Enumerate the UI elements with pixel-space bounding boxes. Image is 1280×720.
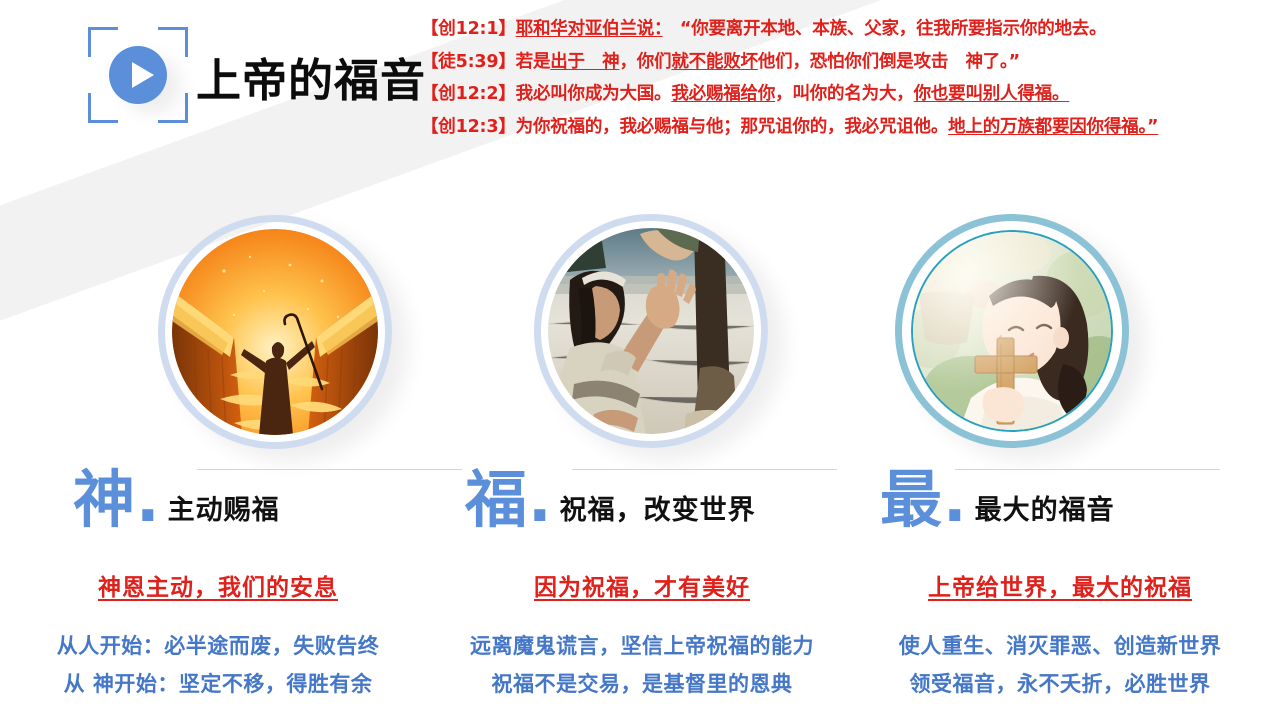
verse-part-2a: 若是 (516, 52, 551, 72)
column-red-line-2: 因为祝福，才有美好 (432, 568, 852, 602)
verse-ref-2: 【徒5:39】 (421, 52, 516, 72)
circle-image-2 (534, 214, 768, 448)
column-dot-1: . (136, 469, 160, 531)
column-big-char-1: 神 (73, 469, 135, 531)
column-subhead-2: 祝福，改变世界 (560, 488, 756, 527)
verse-line-4: 【创12:3】为你祝福的，我必赐福与他；那咒诅你的，我必咒诅他。地上的万族都要因… (421, 111, 1280, 144)
column-subhead-3: 最大的福音 (975, 488, 1115, 527)
column-red-line-3: 上帝给世界，最大的祝福 (850, 568, 1270, 602)
image-row (0, 205, 1280, 455)
verse-line-3: 【创12:2】我必叫你成为大国。我必赐福给你，叫你的名为大，你也要叫别人得福。 (421, 78, 1280, 111)
slide-header: 上帝的福音 【创12:1】耶和华对亚伯兰说： “你要离开本地、本族、父家，往我所… (0, 0, 1280, 160)
page-title: 上帝的福音 (196, 44, 426, 109)
verse-underline-2b: 就不能败坏 (671, 52, 758, 72)
column-blue-line-2b: 祝福不是交易，是基督里的恩典 (432, 665, 852, 703)
column-heading-3: 最 . 最大的福音 (880, 469, 1115, 531)
woman-kneeling-reaching-photo (548, 228, 754, 434)
brand-logo (88, 27, 188, 123)
verse-part-2b: ，你们 (619, 52, 671, 72)
circle-image-3 (895, 214, 1129, 448)
column-red-line-1: 神恩主动，我们的安息 (8, 568, 428, 602)
verse-part-3a: 我必叫你成为大国。 (516, 84, 672, 104)
content-columns: 神 . 主动赐福 福 . 祝福，改变世界 最 . 最大的福音 神恩主动，我们的安… (0, 455, 1280, 720)
verse-line-2: 【徒5:39】若是出于 神，你们就不能败坏他们，恐怕你们倒是攻击 神了。” (421, 46, 1280, 79)
verse-part-3b: ，叫你的名为大， (775, 84, 913, 104)
column-dot-3: . (943, 469, 967, 531)
verse-ref-3: 【创12:2】 (421, 84, 516, 104)
column-blue-line-3a: 使人重生、消灭罪恶、创造新世界 (850, 627, 1270, 665)
verse-ref-1: 【创12:1】 (421, 19, 516, 39)
column-blue-line-1b: 从 神开始：坚定不移，得胜有余 (8, 665, 428, 703)
column-subhead-1: 主动赐福 (168, 488, 280, 527)
column-blue-line-1a: 从人开始：必半途而废，失败告终 (8, 627, 428, 665)
play-button-icon (109, 46, 167, 104)
column-blue-lines-1: 从人开始：必半途而废，失败告终 从 神开始：坚定不移，得胜有余 (8, 627, 428, 703)
verse-underline-4a: 地上的万族都要因你得福。” (948, 117, 1158, 137)
verse-underline-1a: 耶和华对亚伯兰说： (516, 19, 663, 39)
slide-canvas: 上帝的福音 【创12:1】耶和华对亚伯兰说： “你要离开本地、本族、父家，往我所… (0, 0, 1280, 720)
column-dot-2: . (528, 469, 552, 531)
column-blue-line-2a: 远离魔鬼谎言，坚信上帝祝福的能力 (432, 627, 852, 665)
verse-ref-4: 【创12:3】 (421, 117, 516, 137)
child-holding-cross-photo (911, 230, 1113, 432)
column-blue-lines-3: 使人重生、消灭罪恶、创造新世界 领受福音，永不夭折，必胜世界 (850, 627, 1270, 703)
scripture-verse-block: 【创12:1】耶和华对亚伯兰说： “你要离开本地、本族、父家，往我所要指示你的地… (421, 13, 1280, 143)
moses-parting-sea-illustration (172, 229, 378, 435)
verse-underline-3b: 你也要叫别人得福。 (914, 84, 1070, 104)
column-heading-1: 神 . 主动赐福 (73, 469, 280, 531)
verse-underline-3a: 我必赐福给你 (671, 84, 775, 104)
verse-rest-1: “你要离开本地、本族、父家，往我所要指示你的地去。 (663, 19, 1107, 39)
column-blue-line-3b: 领受福音，永不夭折，必胜世界 (850, 665, 1270, 703)
column-heading-2: 福 . 祝福，改变世界 (465, 469, 756, 531)
circle-image-1 (158, 215, 392, 449)
verse-part-2c: 他们，恐怕你们倒是攻击 神了。” (758, 52, 1020, 72)
column-blue-lines-2: 远离魔鬼谎言，坚信上帝祝福的能力 祝福不是交易，是基督里的恩典 (432, 627, 852, 703)
column-big-char-3: 最 (880, 469, 942, 531)
verse-line-1: 【创12:1】耶和华对亚伯兰说： “你要离开本地、本族、父家，往我所要指示你的地… (421, 13, 1280, 46)
verse-part-4a: 为你祝福的，我必赐福与他；那咒诅你的，我必咒诅他。 (516, 117, 949, 137)
verse-underline-2a: 出于 神 (550, 52, 619, 72)
column-big-char-2: 福 (465, 469, 527, 531)
